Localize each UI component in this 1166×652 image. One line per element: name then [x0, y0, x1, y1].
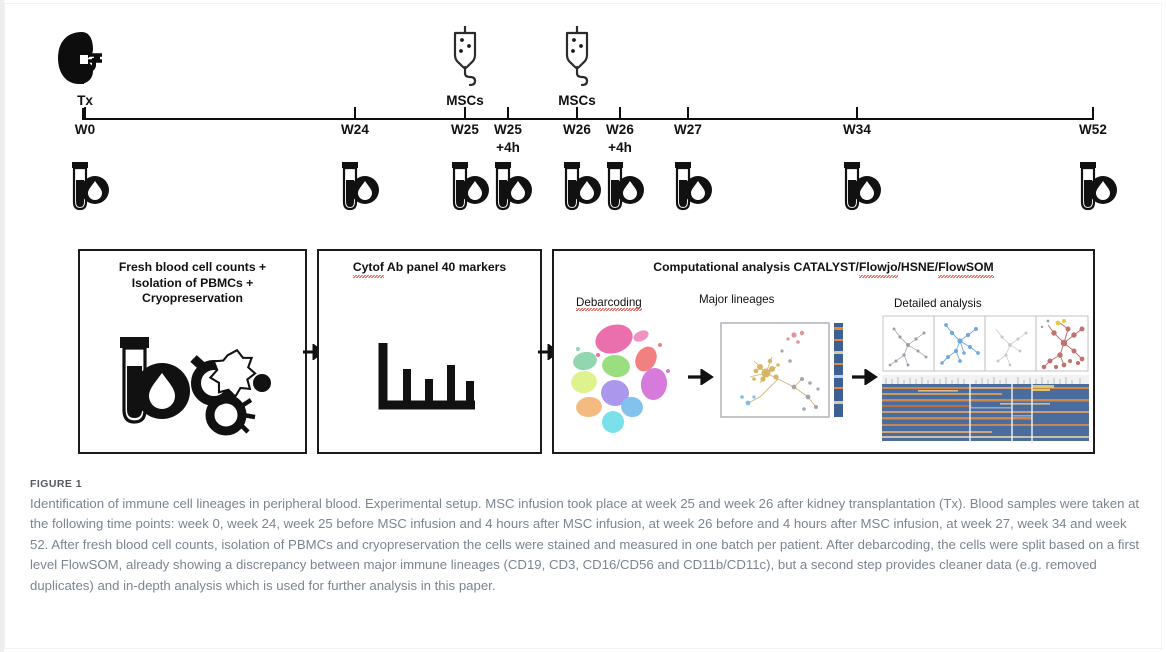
blood-collection-tube-icon-w27: [671, 160, 715, 216]
step-label-debarcoding: Debarcoding: [576, 296, 642, 309]
blood-collection-tube-icon-w34: [840, 160, 884, 216]
mass-cytometry-signal-icon: [375, 339, 479, 417]
figure-root: Tx W0W24W25MSCsW25+4hW26MSCsW26+4hW27W34…: [0, 0, 1166, 652]
timeline-tick-w34: [856, 107, 858, 119]
iv-drip-bag-icon-w25: [447, 26, 483, 90]
timeline-tick-w25p4h: [507, 107, 509, 119]
msc-infusion-label-w25: MSCs: [446, 93, 484, 108]
panel2-title-rest: Ab panel 40 markers: [384, 260, 506, 274]
blood-collection-tube-icon-w26p4h: [603, 160, 647, 216]
kidney-icon: [52, 28, 114, 90]
timeline-tick-w26: [576, 107, 578, 119]
multi-panel-tree-heatmap: [882, 315, 1090, 443]
blood-collection-tube-icon-w25: [448, 160, 492, 216]
timeline-tick-sublabel-w25p4h: +4h: [496, 140, 520, 155]
transplant-label: Tx: [77, 93, 93, 108]
heatmap-strip: [882, 375, 1089, 441]
timeline-tick-label-w34: W34: [843, 122, 871, 137]
blood-collection-tube-icon-w52: [1076, 160, 1120, 216]
timeline-tick-w24: [354, 107, 356, 119]
msc-infusion-label-w26: MSCs: [558, 93, 596, 108]
timeline-tick-w52: [1092, 107, 1094, 119]
iv-drip-bag-icon-w26: [559, 26, 595, 90]
figure-caption: FIGURE 1 Identification of immune cell l…: [30, 478, 1140, 596]
workflow-panel-computational-analysis: Computational analysis CATALYST/Flowjo/H…: [552, 249, 1095, 454]
panel3-title-seg-1-misspelled: Flowjo: [859, 260, 898, 276]
timeline-tick-label-w26p4h: W26: [606, 122, 634, 137]
timeline-tick-w25: [464, 107, 466, 119]
blood-collection-tube-icon-w0: [68, 160, 112, 216]
timeline-axis: [82, 118, 1094, 120]
flowsom-tree-plot: [720, 317, 848, 439]
timeline-tick-label-w26: W26: [563, 122, 591, 137]
blood-collection-tube-icon-w24: [338, 160, 382, 216]
step-label-major-lineages: Major lineages: [699, 293, 774, 306]
tsne-cluster-plot: [568, 319, 686, 437]
panel1-icon-group: [110, 331, 282, 441]
blood-collection-tube-icon-w25p4h: [491, 160, 535, 216]
timeline-tick-label-w25: W25: [451, 122, 479, 137]
timeline-tick-label-w0: W0: [75, 122, 95, 137]
workflow-panel-sample-prep: Fresh blood cell counts + Isolation of P…: [78, 249, 307, 454]
panel2-title-misspelled-word: Cytof: [353, 260, 384, 276]
timeline-tick-label-w24: W24: [341, 122, 369, 137]
experiment-timeline: Tx W0W24W25MSCsW25+4hW26MSCsW26+4hW27W34…: [0, 0, 1166, 240]
timeline-tick-label-w25p4h: W25: [494, 122, 522, 137]
panel3-title-seg-3-misspelled: FlowSOM: [938, 260, 994, 276]
timeline-tick-label-w52: W52: [1079, 122, 1107, 137]
arrow-lineages-to-detailed-icon: [852, 369, 878, 385]
panel2-title: Cytof Ab panel 40 markers: [319, 260, 540, 276]
figure-number-label: FIGURE 1: [30, 478, 1140, 490]
timeline-tick-w26p4h: [619, 107, 621, 119]
arrow-debarcoding-to-lineages-icon: [688, 369, 714, 385]
timeline-tick-w0: [84, 107, 86, 119]
workflow-panel-cytof: Cytof Ab panel 40 markers: [317, 249, 542, 454]
timeline-tick-w27: [687, 107, 689, 119]
panel3-title-seg-0: Computational analysis CATALYST/: [653, 260, 859, 274]
blood-drop-badge-icon: [134, 363, 190, 419]
panel3-title: Computational analysis CATALYST/Flowjo/H…: [554, 260, 1093, 276]
blood-collection-tube-icon-w26: [560, 160, 604, 216]
dendritic-cell-icon: [210, 350, 271, 396]
panel3-title-seg-2: /HSNE/: [898, 260, 939, 274]
step-label-detailed-analysis: Detailed analysis: [894, 297, 982, 310]
monocyte-icon: [210, 399, 255, 432]
figure-caption-text: Identification of immune cell lineages i…: [30, 494, 1140, 596]
panel1-title: Fresh blood cell counts + Isolation of P…: [80, 260, 305, 307]
timeline-tick-label-w27: W27: [674, 122, 702, 137]
timeline-tick-sublabel-w26p4h: +4h: [608, 140, 632, 155]
